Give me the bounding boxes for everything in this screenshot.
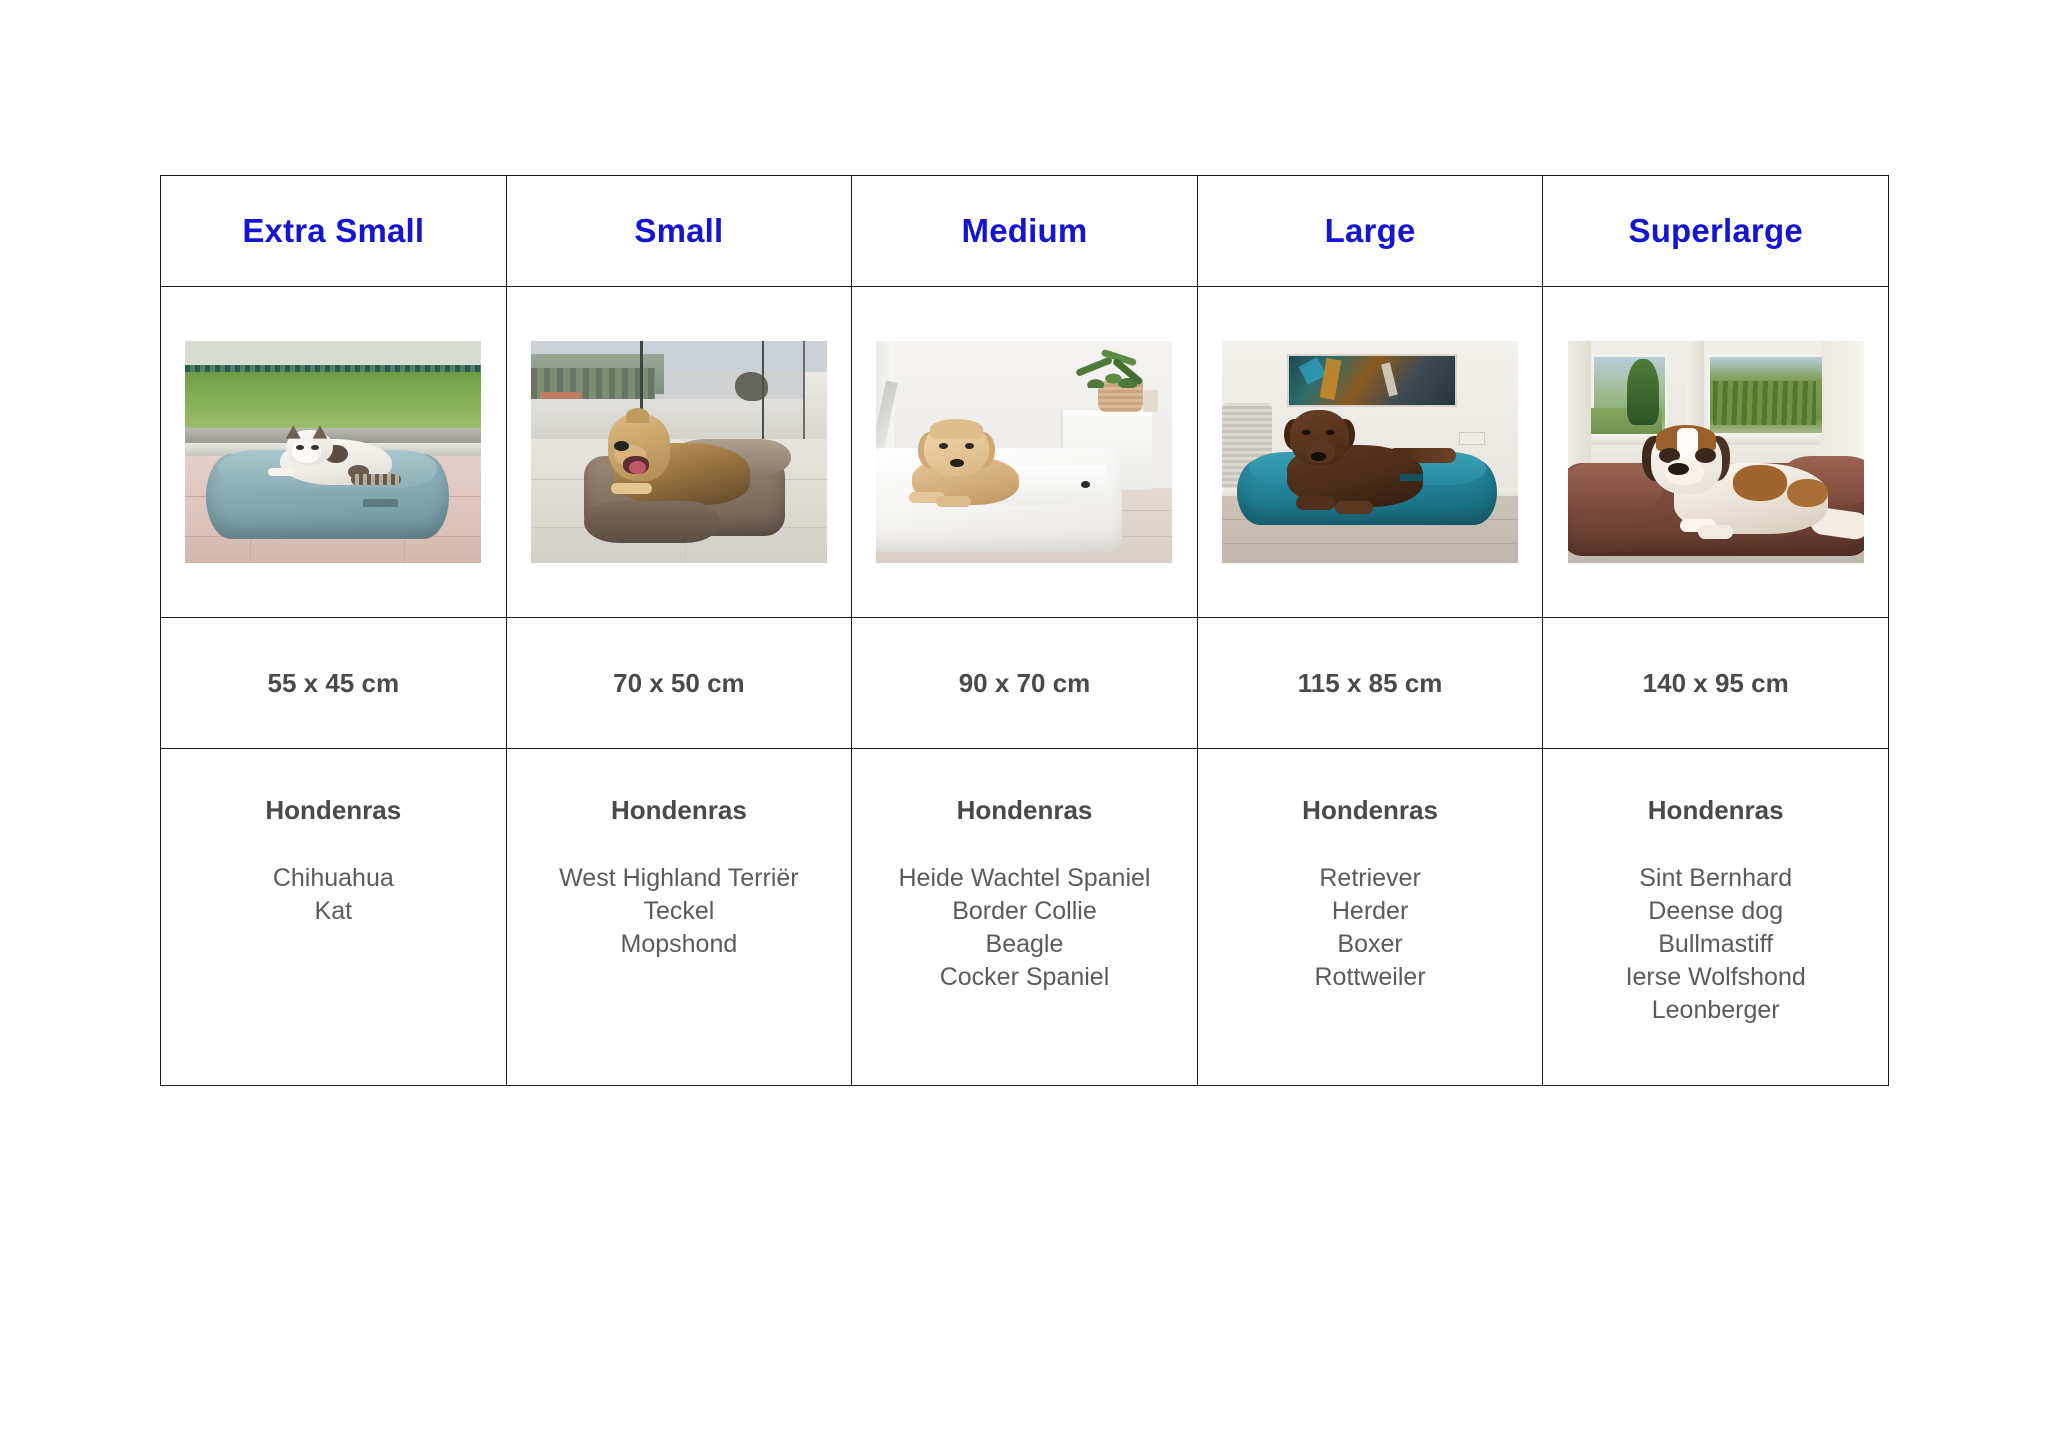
cat-face (292, 441, 322, 463)
list-item: Leonberger (1543, 994, 1888, 1027)
list-item: Sint Bernhard (1543, 862, 1888, 895)
hedge-region (1713, 381, 1817, 425)
brand-label (1081, 481, 1090, 488)
photo-cat-on-light-blue-dog-bed (185, 341, 481, 563)
dimensions-cell-large: 115 x 85 cm (1197, 618, 1543, 749)
photo-terrier-on-brown-leather-dog-bed (531, 341, 827, 563)
photo-cell-medium (852, 287, 1198, 618)
dog-nose (614, 441, 629, 451)
dog-eye (1302, 430, 1311, 435)
breed-heading-medium: Hondenras (852, 795, 1197, 826)
breed-list-medium: Heide Wachtel Spaniel Border Collie Beag… (852, 862, 1197, 994)
photo-chocolate-labrador-on-teal-dog-bed (1222, 341, 1518, 563)
breed-heading-extra-small: Hondenras (161, 795, 506, 826)
table-header-row: Extra Small Small Medium Large Superlarg… (161, 176, 1889, 287)
header-cell-superlarge: Superlarge (1543, 176, 1889, 287)
document-page: Extra Small Small Medium Large Superlarg… (0, 0, 2048, 1448)
header-cell-large: Large (1197, 176, 1543, 287)
dimensions-cell-medium: 90 x 70 cm (852, 618, 1198, 749)
list-item: Heide Wachtel Spaniel (852, 862, 1197, 895)
list-item: Chihuahua (161, 862, 506, 895)
photo-saint-bernard-on-brown-dog-bed (1568, 341, 1864, 563)
breeds-cell-large: Hondenras Retriever Herder Boxer Rottwei… (1197, 749, 1543, 1086)
dog-paw (1335, 501, 1373, 514)
breed-heading-large: Hondenras (1198, 795, 1543, 826)
grass-region (185, 372, 481, 430)
photo-cell-small (506, 287, 852, 618)
sky-region (185, 341, 481, 365)
dog-eye (965, 443, 974, 449)
list-item: Border Collie (852, 895, 1197, 928)
floor-plank-seam (1222, 543, 1518, 544)
breed-list-extra-small: Chihuahua Kat (161, 862, 506, 928)
dimensions-cell-superlarge: 140 x 95 cm (1543, 618, 1889, 749)
breed-list-small: West Highland Terriër Teckel Mopshond (507, 862, 852, 961)
dog-ear (626, 408, 650, 424)
dog-bed-bolster (584, 501, 720, 543)
cat-paw (268, 468, 295, 477)
size-name-extra-small: Extra Small (161, 213, 506, 249)
breed-list-large: Retriever Herder Boxer Rottweiler (1198, 862, 1543, 994)
breeds-cell-small: Hondenras West Highland Terriër Teckel M… (506, 749, 852, 1086)
dog-bed-size-table: Extra Small Small Medium Large Superlarg… (160, 175, 1889, 1086)
candle (1143, 390, 1158, 412)
breed-heading-small: Hondenras (507, 795, 852, 826)
table-dimensions-row: 55 x 45 cm 70 x 50 cm 90 x 70 cm 115 x 8… (161, 618, 1889, 749)
dog-eye-mask (1695, 448, 1716, 464)
list-item: Rottweiler (1198, 961, 1543, 994)
dog-eye (1326, 430, 1335, 435)
dog-eye (939, 443, 948, 449)
list-item: Retriever (1198, 862, 1543, 895)
photo-cell-large (1197, 287, 1543, 618)
tree (1627, 359, 1660, 426)
list-item: Kat (161, 895, 506, 928)
breed-list-superlarge: Sint Bernhard Deense dog Bullmastiff Ier… (1543, 862, 1888, 1027)
list-item: Beagle (852, 928, 1197, 961)
breed-heading-superlarge: Hondenras (1543, 795, 1888, 826)
list-item: Boxer (1198, 928, 1543, 961)
brand-label (363, 499, 399, 508)
list-item: Ierse Wolfshond (1543, 961, 1888, 994)
list-item: Cocker Spaniel (852, 961, 1197, 994)
window-mullion (803, 341, 805, 441)
list-item: Teckel (507, 895, 852, 928)
dimensions-extra-small: 55 x 45 cm (161, 668, 506, 699)
breeds-cell-extra-small: Hondenras Chihuahua Kat (161, 749, 507, 1086)
dimensions-small: 70 x 50 cm (507, 668, 852, 699)
list-item: Herder (1198, 895, 1543, 928)
photo-cell-superlarge (1543, 287, 1889, 618)
size-name-medium: Medium (852, 213, 1197, 249)
list-item: West Highland Terriër (507, 862, 852, 895)
dog-nose (950, 459, 963, 467)
list-item: Bullmastiff (1543, 928, 1888, 961)
dog-head-fur (930, 419, 983, 439)
header-cell-extra-small: Extra Small (161, 176, 507, 287)
wall-socket (1459, 432, 1485, 445)
list-item: Deense dog (1543, 895, 1888, 928)
list-item: Mopshond (507, 928, 852, 961)
breeds-cell-superlarge: Hondenras Sint Bernhard Deense dog Bullm… (1543, 749, 1889, 1086)
dimensions-large: 115 x 85 cm (1198, 668, 1543, 699)
photo-cell-extra-small (161, 287, 507, 618)
dimensions-superlarge: 140 x 95 cm (1543, 668, 1888, 699)
table-breeds-row: Hondenras Chihuahua Kat Hondenras West H… (161, 749, 1889, 1086)
header-cell-small: Small (506, 176, 852, 287)
size-name-superlarge: Superlarge (1543, 213, 1888, 249)
dimensions-cell-small: 70 x 50 cm (506, 618, 852, 749)
dog-paw (1296, 496, 1334, 509)
dimensions-medium: 90 x 70 cm (852, 668, 1197, 699)
breeds-cell-medium: Hondenras Heide Wachtel Spaniel Border C… (852, 749, 1198, 1086)
header-cell-medium: Medium (852, 176, 1198, 287)
dog-paw (1698, 525, 1734, 538)
dog-patch (1733, 465, 1786, 501)
dog-paw (611, 483, 652, 494)
dog-nose (1311, 452, 1326, 461)
size-name-small: Small (507, 213, 852, 249)
brand-label (1400, 474, 1424, 481)
cat-tail (351, 474, 401, 485)
size-name-large: Large (1198, 213, 1543, 249)
photo-cockapoo-on-white-dog-bed (876, 341, 1172, 563)
dog-patch (1787, 479, 1828, 508)
dimensions-cell-extra-small: 55 x 45 cm (161, 618, 507, 749)
table-photo-row (161, 287, 1889, 618)
dog-paw (936, 496, 972, 507)
